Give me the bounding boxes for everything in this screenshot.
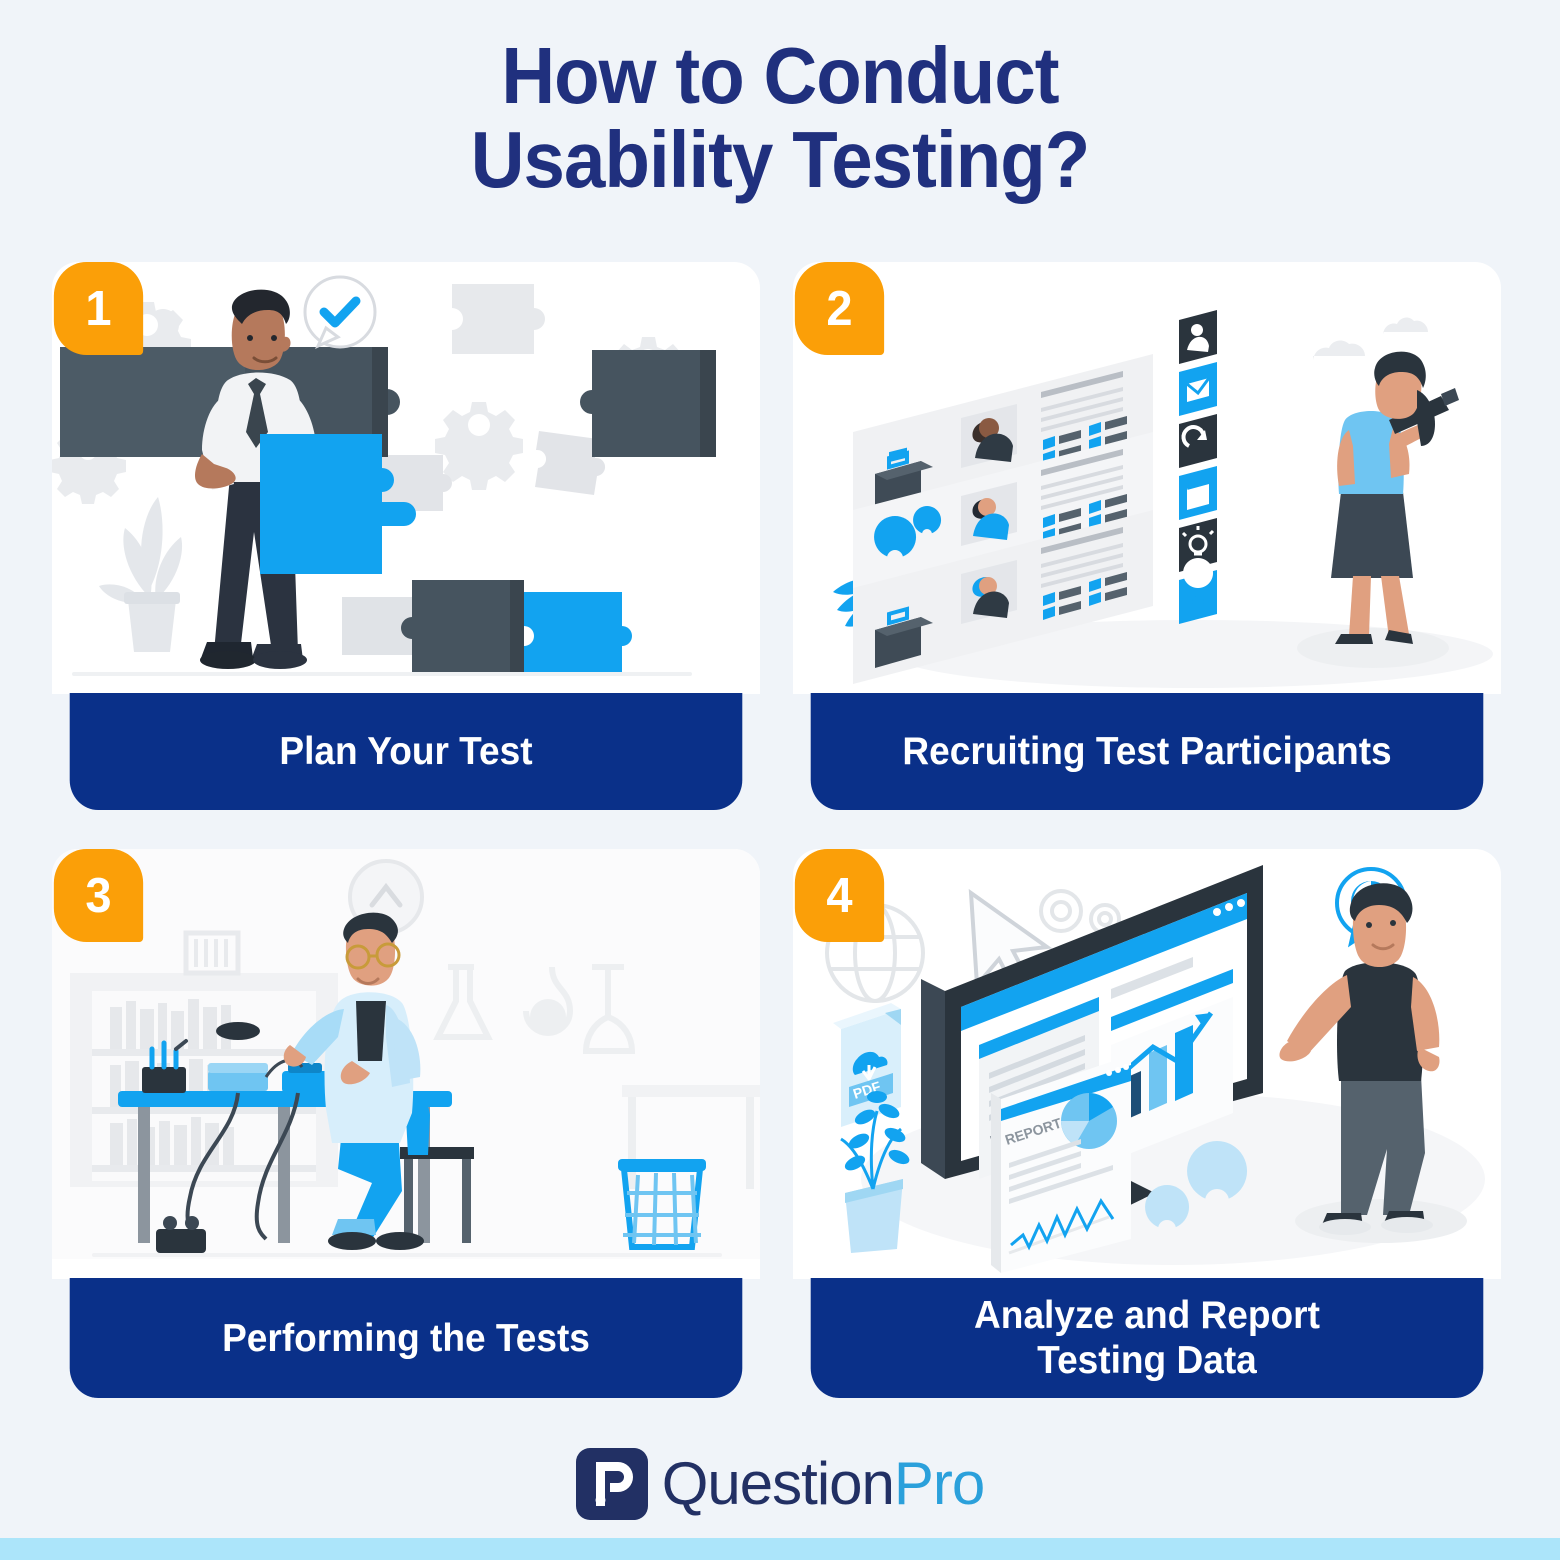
steps-grid: 1 Plan Your Test: [52, 262, 1508, 1422]
logo-word-question: Question: [662, 1450, 894, 1517]
step-label-3: Performing the Tests: [70, 1278, 743, 1398]
step-card-3[interactable]: 3 Performing the Tests: [52, 849, 760, 1397]
step-number-badge-3: 3: [54, 849, 143, 942]
step-number-badge-2: 2: [795, 262, 884, 355]
page-title-line1: How to Conduct: [55, 34, 1506, 118]
step-4-illustration-panel: PDF: [793, 849, 1501, 1279]
step-label-4-line1: Analyze and Report: [974, 1293, 1320, 1338]
questionpro-logo[interactable]: QuestionPro: [0, 1448, 1560, 1520]
step-2-illustration-panel: [793, 262, 1501, 694]
illustration-recruiting-participants: [793, 262, 1501, 694]
step-label-4-line2: Testing Data: [974, 1338, 1320, 1383]
questionpro-logo-mark: [576, 1448, 648, 1520]
questionpro-logo-text: QuestionPro: [662, 1454, 985, 1514]
step-number-badge-4: 4: [795, 849, 884, 942]
illustration-plan-your-test: [52, 262, 760, 694]
step-number-badge-1: 1: [54, 262, 143, 355]
step-label-1: Plan Your Test: [70, 693, 743, 810]
page-title: How to Conduct Usability Testing?: [55, 34, 1506, 202]
step-card-1[interactable]: 1 Plan Your Test: [52, 262, 760, 810]
step-label-4: Analyze and Report Testing Data: [811, 1278, 1484, 1398]
page-title-line2: Usability Testing?: [55, 118, 1506, 202]
footer-accent-strip: [0, 1538, 1560, 1560]
step-1-illustration-panel: [52, 262, 760, 694]
illustration-analyze-report-data: PDF: [793, 849, 1501, 1279]
step-label-2: Recruiting Test Participants: [811, 693, 1484, 810]
step-card-2[interactable]: 2 Recruiting Test Participants: [793, 262, 1501, 810]
logo-word-pro: Pro: [894, 1450, 984, 1517]
step-3-illustration-panel: [52, 849, 760, 1279]
step-card-4[interactable]: PDF: [793, 849, 1501, 1397]
illustration-performing-tests: [52, 849, 760, 1279]
